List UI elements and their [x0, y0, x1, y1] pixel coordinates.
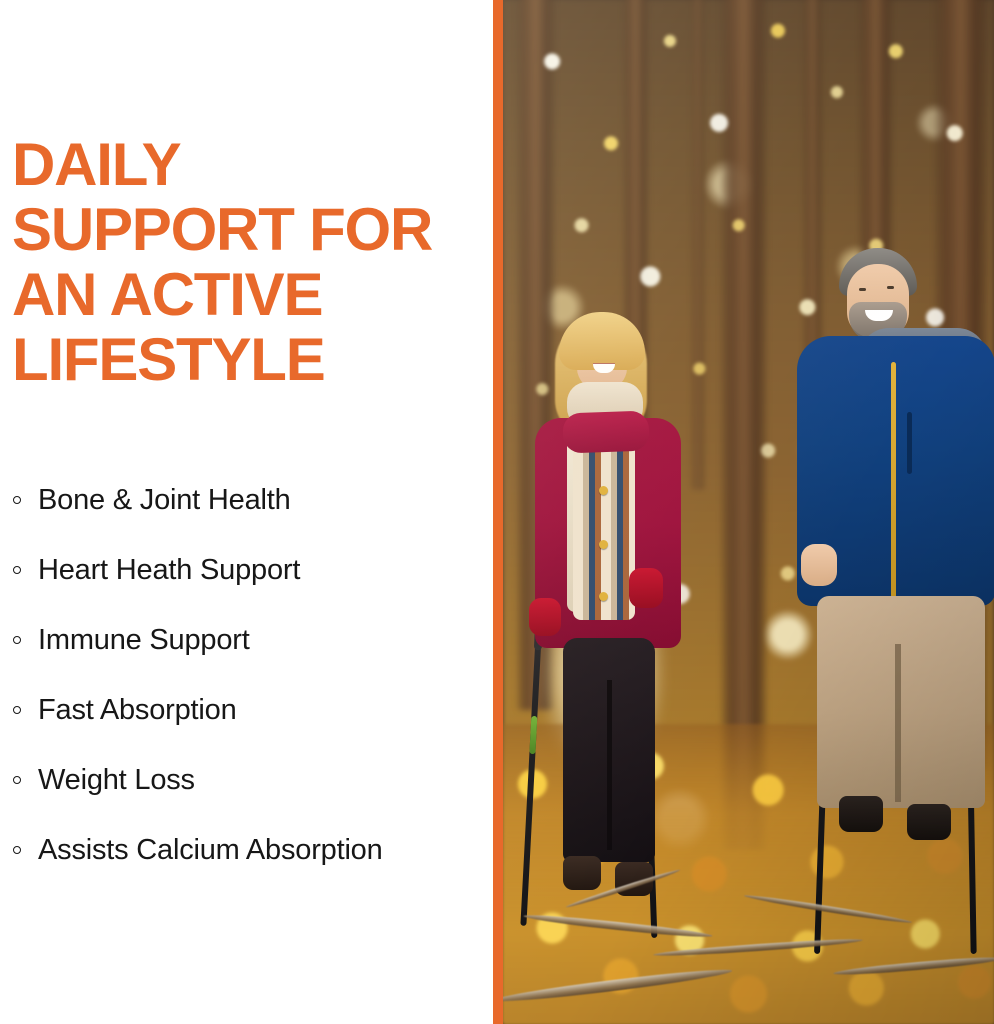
list-item: Heart Heath Support — [10, 535, 490, 605]
list-item-label: Weight Loss — [38, 763, 195, 797]
leg-separation — [895, 644, 901, 802]
woman-hiker — [533, 300, 693, 900]
bullet-ring-icon — [13, 776, 21, 784]
leg-separation — [607, 680, 612, 850]
headline-line-3: AN ACTIVE — [12, 262, 482, 327]
khaki-trousers — [817, 596, 985, 808]
bullet-ring-icon — [13, 636, 21, 644]
list-item-label: Heart Heath Support — [38, 553, 300, 587]
red-glove — [529, 598, 561, 636]
button — [599, 592, 608, 601]
list-item-label: Assists Calcium Absorption — [38, 833, 383, 867]
hiking-boot — [563, 856, 601, 890]
hand — [801, 544, 837, 586]
text-panel: DAILY SUPPORT FOR AN ACTIVE LIFESTYLE Bo… — [0, 0, 493, 1024]
jacket-zipper — [891, 362, 896, 598]
hair-front — [559, 312, 645, 370]
bullet-ring-icon — [13, 566, 21, 574]
bullet-ring-icon — [13, 706, 21, 714]
bullet-ring-icon — [13, 496, 21, 504]
headline-line-1: DAILY — [12, 132, 482, 197]
list-item: Assists Calcium Absorption — [10, 815, 490, 885]
eye — [887, 286, 894, 289]
hiking-boot — [907, 804, 951, 840]
bullet-ring-icon — [13, 846, 21, 854]
list-item-label: Immune Support — [38, 623, 250, 657]
list-item-label: Bone & Joint Health — [38, 483, 291, 517]
list-item-label: Fast Absorption — [38, 693, 237, 727]
promo-banner: DAILY SUPPORT FOR AN ACTIVE LIFESTYLE Bo… — [0, 0, 994, 1024]
chest-pocket-zipper — [907, 412, 912, 474]
lifestyle-photo — [503, 0, 994, 1024]
button — [599, 540, 608, 549]
list-item: Bone & Joint Health — [10, 465, 490, 535]
red-glove — [629, 568, 663, 608]
hiking-boot — [839, 796, 883, 832]
button — [599, 486, 608, 495]
headline-line-2: SUPPORT FOR — [12, 197, 482, 262]
man-hiker — [803, 244, 994, 904]
list-item: Weight Loss — [10, 745, 490, 815]
jacket-collar — [562, 411, 649, 454]
list-item: Immune Support — [10, 605, 490, 675]
list-item: Fast Absorption — [10, 675, 490, 745]
vertical-orange-divider — [493, 0, 503, 1024]
benefits-list: Bone & Joint Health Heart Heath Support … — [10, 465, 490, 885]
headline-line-4: LIFESTYLE — [12, 327, 482, 392]
page-title: DAILY SUPPORT FOR AN ACTIVE LIFESTYLE — [12, 132, 482, 392]
eye — [859, 288, 866, 291]
